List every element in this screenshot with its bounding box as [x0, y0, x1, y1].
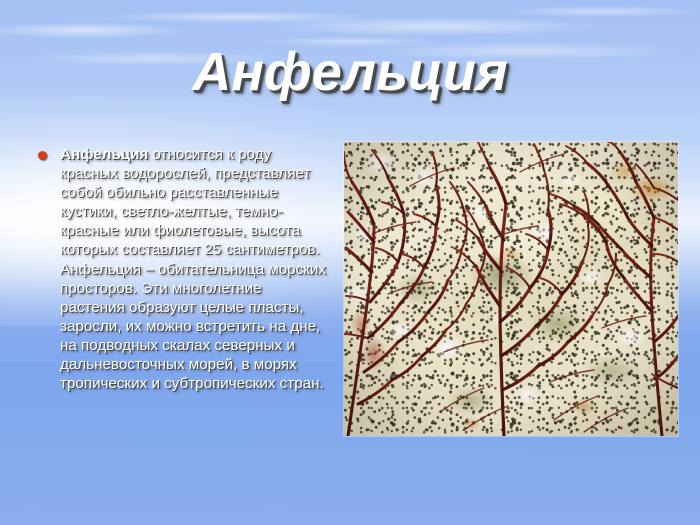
bullet-dot-icon [38, 151, 47, 160]
bullet-list: Анфельция относится к роду красных водор… [38, 145, 328, 393]
body-paragraph: относится к роду красных водорослей, пре… [60, 146, 326, 392]
red-algae-branches [344, 142, 678, 436]
body-lead-term: Анфельция [60, 146, 148, 163]
presentation-slide: Анфельция Анфельция относится к роду кра… [0, 0, 700, 525]
anfeltsia-photo [344, 142, 678, 436]
page-title: Анфельция [0, 44, 700, 101]
list-item: Анфельция относится к роду красных водор… [60, 145, 328, 393]
